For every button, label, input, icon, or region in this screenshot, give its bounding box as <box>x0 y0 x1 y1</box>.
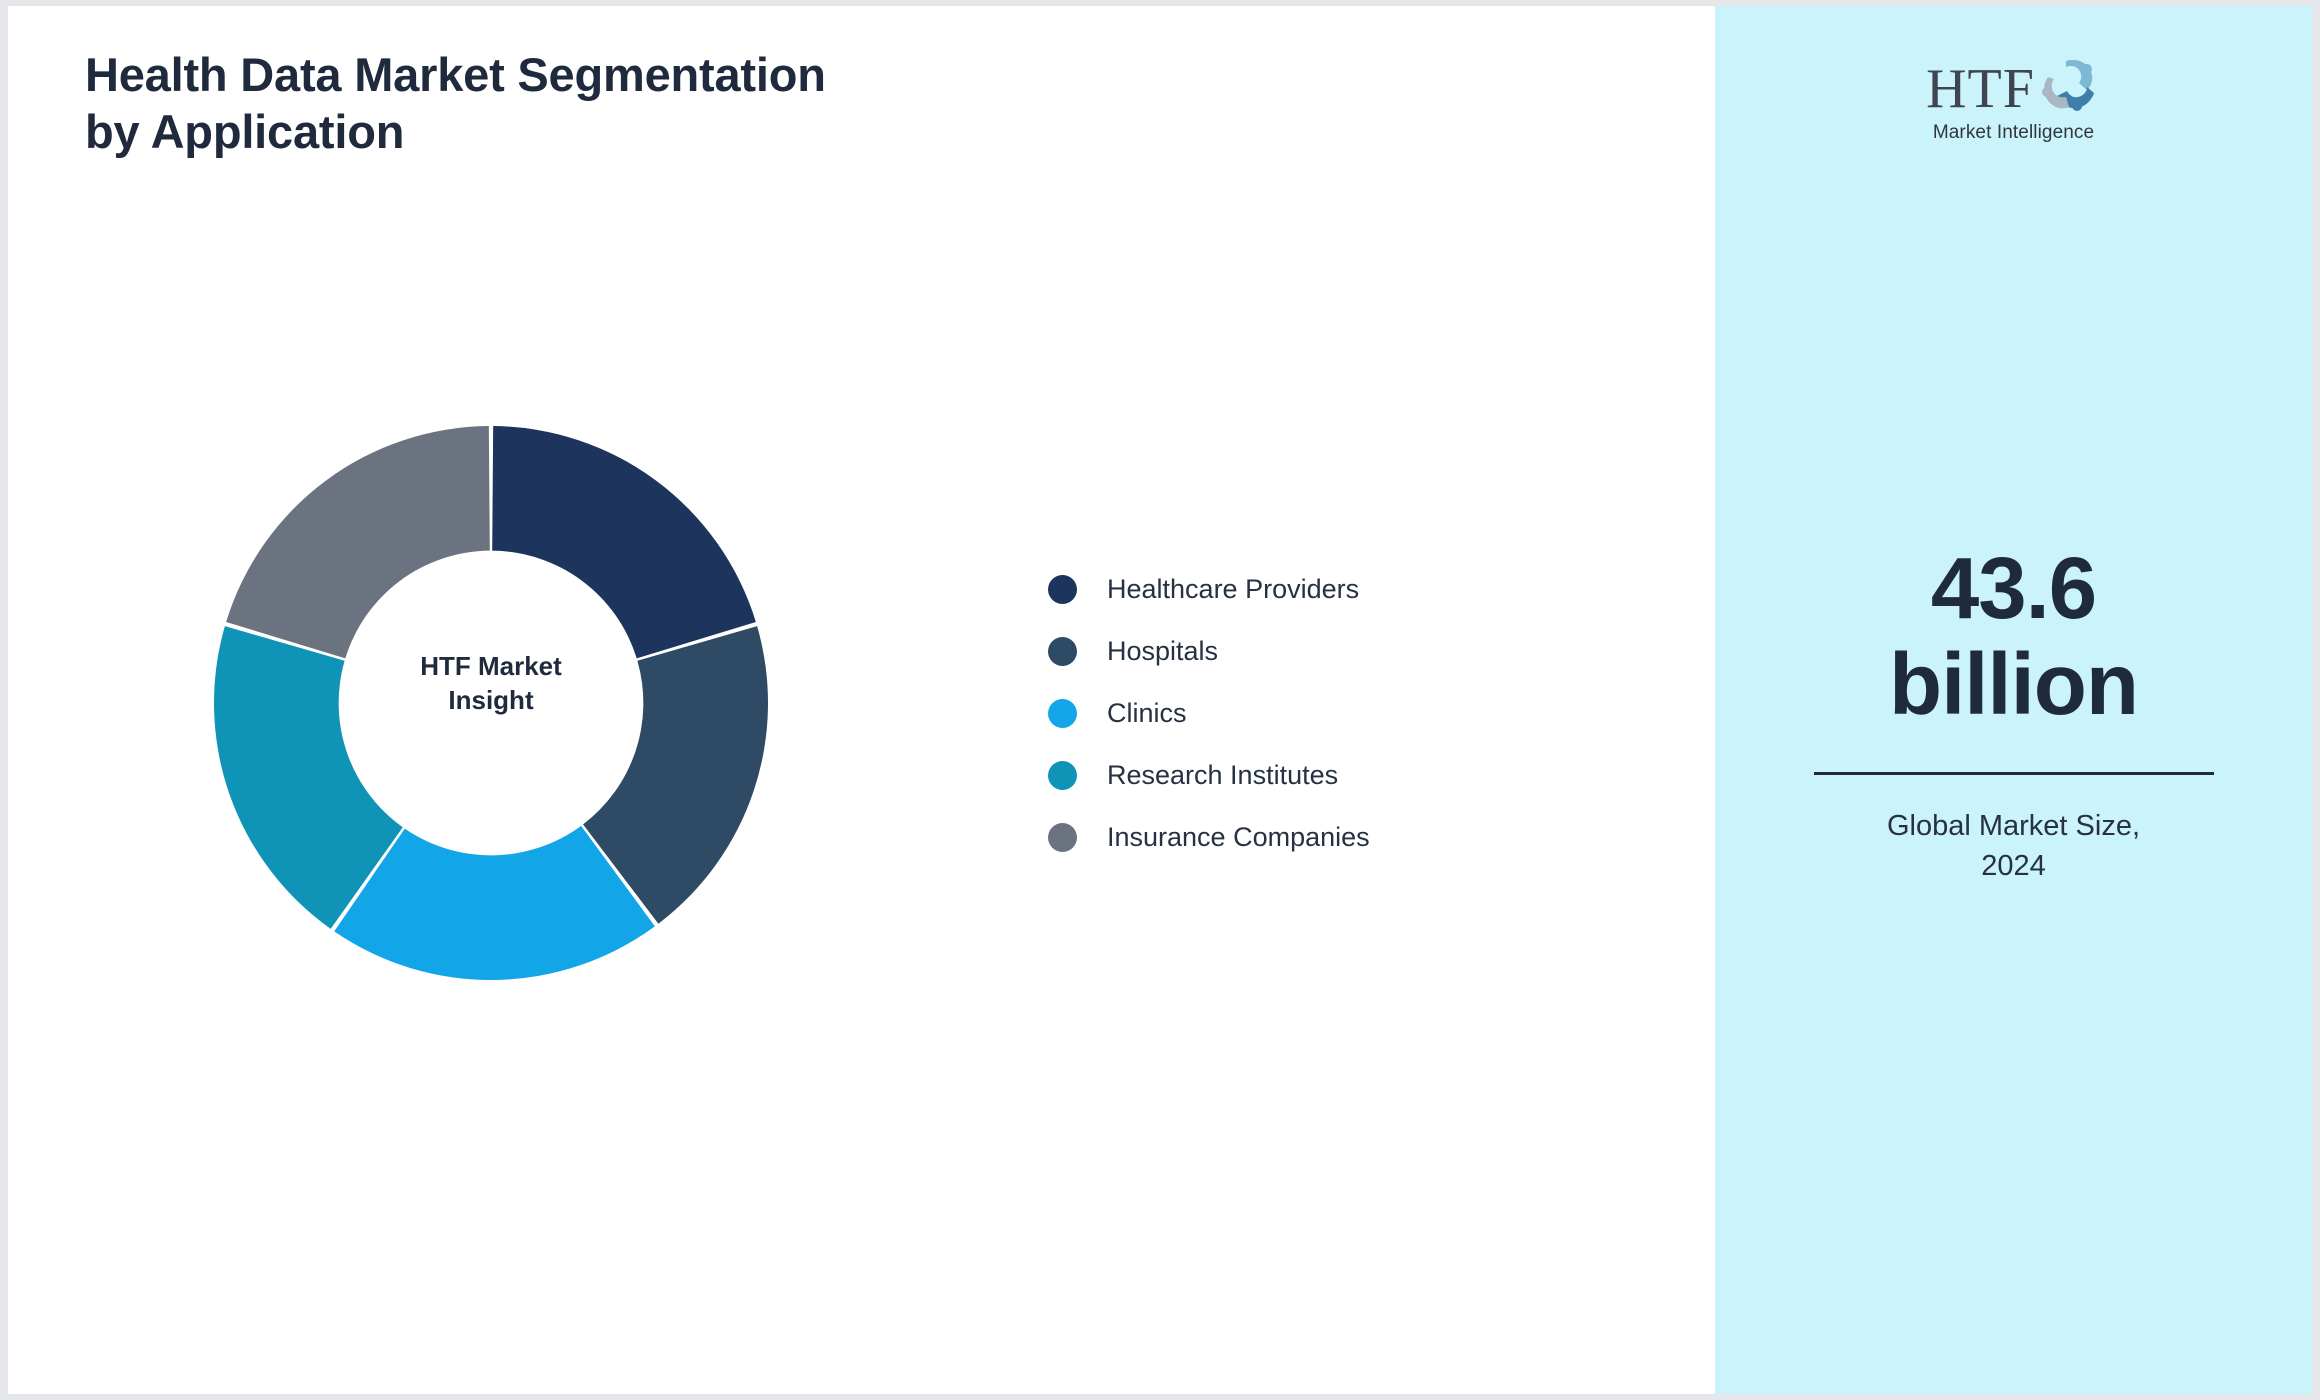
legend-swatch-icon <box>1048 823 1077 852</box>
legend-item-label: Clinics <box>1107 698 1187 729</box>
legend-item-research-institutes[interactable]: Research Institutes <box>1048 744 1370 806</box>
infographic-page: Health Data Market Segmentation by Appli… <box>0 0 2320 1400</box>
legend-swatch-icon <box>1048 699 1077 728</box>
stat-divider <box>1814 772 2214 775</box>
legend-item-clinics[interactable]: Clinics <box>1048 682 1370 744</box>
legend-item-label: Healthcare Providers <box>1107 574 1359 605</box>
chart-legend: Healthcare Providers Hospitals Clinics R… <box>1048 558 1370 868</box>
content-card: Health Data Market Segmentation by Appli… <box>8 6 2312 1394</box>
legend-item-hospitals[interactable]: Hospitals <box>1048 620 1370 682</box>
page-title: Health Data Market Segmentation by Appli… <box>85 46 1085 161</box>
stat-value: 43.6 billion <box>1804 541 2224 732</box>
legend-swatch-icon <box>1048 575 1077 604</box>
stat-caption: Global Market Size, 2024 <box>1804 807 2224 885</box>
stat-block: 43.6 billion Global Market Size, 2024 <box>1804 541 2224 886</box>
htf-logo: HTF <box>1898 58 2130 144</box>
chart-panel: Health Data Market Segmentation by Appli… <box>8 6 1715 1394</box>
legend-swatch-icon <box>1048 761 1077 790</box>
legend-item-label: Research Institutes <box>1107 760 1338 791</box>
donut-center-label: HTF Market Insight <box>361 650 621 718</box>
logo-tagline: Market Intelligence <box>1898 122 2130 144</box>
legend-item-insurance-companies[interactable]: Insurance Companies <box>1048 806 1370 868</box>
legend-swatch-icon <box>1048 637 1077 666</box>
logo-wordmark: HTF <box>1926 61 2035 117</box>
legend-item-healthcare-providers[interactable]: Healthcare Providers <box>1048 558 1370 620</box>
htf-triskelion-mark-icon <box>2039 57 2101 122</box>
stat-panel: HTF <box>1715 6 2312 1394</box>
donut-chart: HTF Market Insight <box>206 418 776 988</box>
legend-item-label: Hospitals <box>1107 636 1218 667</box>
logo-row: HTF <box>1898 58 2130 120</box>
legend-item-label: Insurance Companies <box>1107 822 1370 853</box>
donut-slice[interactable] <box>492 426 756 658</box>
donut-slice[interactable] <box>226 426 490 658</box>
